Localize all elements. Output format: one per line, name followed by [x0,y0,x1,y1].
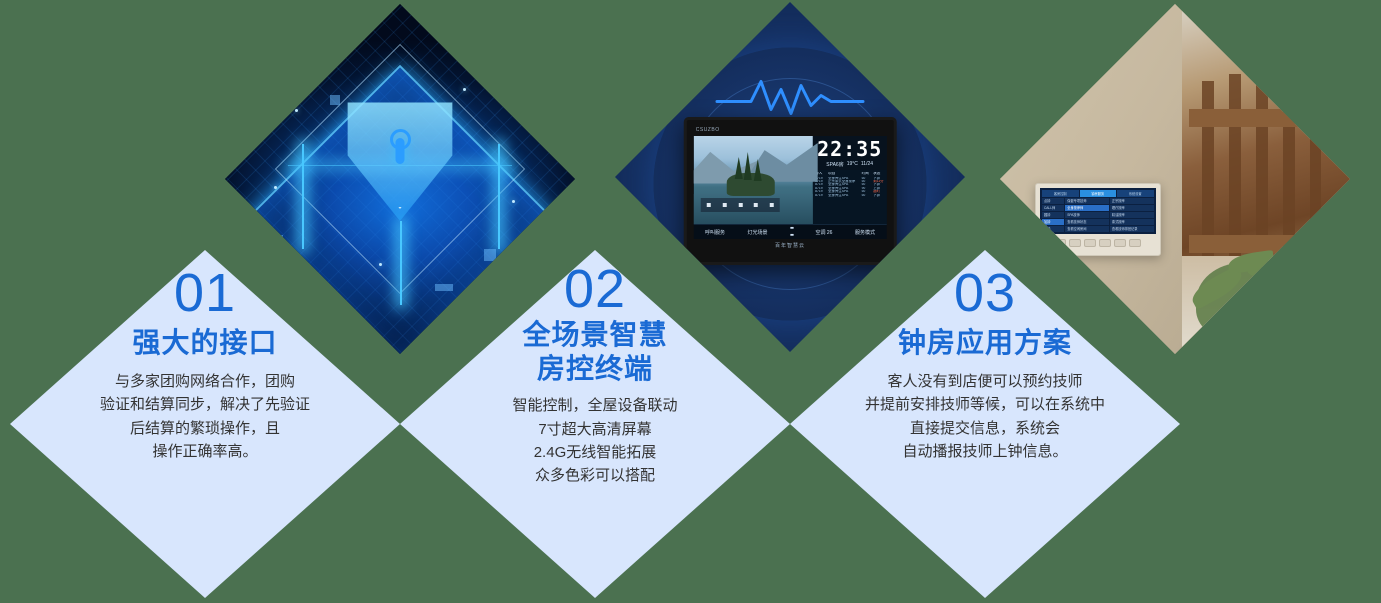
wall-panel-tabs[interactable]: 客房控制 钟房服务 系统设置 [1042,190,1154,197]
card-image-2: CSUZBO [615,2,965,352]
light-beam-left [302,144,304,249]
card-image-3: 客房控制 钟房服务 系统设置 点钟 CALL师 圆钟 加钟 点钟 [1000,4,1350,354]
menu-item[interactable]: 保健专项技师 [1065,198,1109,204]
smart-room-control-panel-device-image: CSUZBO [615,2,965,352]
volume-icon[interactable] [754,203,758,207]
chip-block [267,235,283,245]
chip-block [330,95,340,105]
hard-key[interactable] [1084,239,1096,247]
chip-block [484,249,496,261]
clock-widget: 22:35 SPA6房 19°C 11/24 [813,136,886,170]
light-dot [512,200,515,203]
hard-key[interactable] [1069,239,1081,247]
wood-slat [1310,53,1322,270]
control-panel-device: CSUZBO [684,117,897,265]
light-dot [274,186,277,189]
wall-panel-screen: 客房控制 钟房服务 系统设置 点钟 CALL师 圆钟 加钟 点钟 [1040,188,1156,234]
table-cell: 8719 [815,194,826,197]
clock-meta: SPA6房 19°C 11/24 [816,161,883,168]
side-button[interactable]: 点钟 [1042,226,1064,232]
table-header-cell: 状态 [873,172,884,176]
bottom-bar-item[interactable]: 服务模式 [855,229,875,236]
menu-item[interactable]: 查看技师排班记录 [1110,226,1154,232]
wall-mounted-panel-lobby-photo-image: 客房控制 钟房服务 系统设置 点钟 CALL师 圆钟 加钟 点钟 [1000,4,1350,354]
prev-icon[interactable] [707,203,711,207]
tree [734,157,742,179]
table-cell: 60 [862,194,872,197]
wall-panel-menu-left[interactable]: 保健专项技师 全身按摩师 SPA技师 查看技师状态 查看空闲房间 [1065,198,1109,232]
card-description: 与多家团购网络合作，团购 验证和结算同步，解决了先验证 后结算的繁琐操作，且 操… [100,370,310,463]
side-button[interactable]: 点钟 [1042,198,1064,204]
menu-item[interactable]: 查看技师状态 [1065,219,1109,225]
light-beam-center [400,221,402,305]
room-label: SPA6房 [826,161,843,168]
light-dot [379,263,382,266]
hard-key[interactable] [1114,239,1126,247]
list-icon[interactable] [770,203,774,207]
tree [753,159,761,181]
wall-panel-menu-right[interactable]: 正宗按摩 理疗按摩 精油按摩 泰式按摩 查看技师排班记录 [1110,198,1154,232]
card-3: 03 钟房应用方案 客人没有到店便可以预约技师 并提前安排技师等候，可以在系统中… [790,250,1180,598]
light-dot [463,88,466,91]
wall-panel-tab[interactable]: 客房控制 [1042,190,1079,197]
wood-rail [1189,109,1344,127]
table-header-cell: 时间 [862,172,872,176]
device-brand-label: CSUZBO [696,127,887,133]
service-table-body: 8719全身养生SPA60下钟8719正宗泰式全身按摩60剩11分8719全身养… [815,177,884,197]
menu-item[interactable]: 泰式按摩 [1110,219,1154,225]
play-icon[interactable] [723,203,727,207]
side-button[interactable]: CALL师 [1042,205,1064,211]
hard-key[interactable] [1129,239,1141,247]
bottom-bar-item[interactable]: 呼叫服务 [705,229,725,236]
device-screen: 22:35 SPA6房 19°C 11/24 钟人 项目 时间 [694,136,887,224]
card-number: 01 [174,266,236,320]
wall-panel-side-buttons[interactable]: 点钟 CALL师 圆钟 加钟 点钟 [1042,198,1064,232]
card-number: 02 [564,262,626,316]
chip-block [435,284,453,291]
service-table: 钟人 项目 时间 状态 8719全身养生SPA60下钟8719正宗泰式全身按摩6… [813,170,886,224]
heartbeat-icon [715,71,865,122]
menu-item[interactable]: 正宗按摩 [1110,198,1154,204]
card-title: 钟房应用方案 [898,326,1072,360]
card-description: 智能控制，全屋设备联动 7寸超大高清屏幕 2.4G无线智能拓展 众多色彩可以搭配 [512,394,677,487]
menu-item[interactable]: 理疗按摩 [1110,205,1154,211]
menu-item-selected[interactable]: 全身按摩师 [1065,205,1109,211]
table-row: 8719全身养生SPA60下钟 [815,194,884,197]
wall-panel-tab-active[interactable]: 钟房服务 [1080,190,1117,197]
cyber-shield-lock-circuit-image [225,4,575,354]
next-icon[interactable] [738,203,742,207]
feature-diamond-banner: CSUZBO [0,0,1381,603]
wallpaper-scenery [694,136,813,224]
wall-panel-tab[interactable]: 系统设置 [1117,190,1154,197]
card-2: 02 全场景智慧 房控终端 智能控制，全屋设备联动 7寸超大高清屏幕 2.4G无… [400,250,790,598]
menu-item[interactable]: 精油按摩 [1110,212,1154,218]
tree [744,152,752,180]
card-title: 全场景智慧 房控终端 [522,318,667,386]
card-number: 03 [954,266,1016,320]
card-title: 强大的接口 [132,326,277,360]
table-cell: 下钟 [873,194,884,197]
card-1: 01 强大的接口 与多家团购网络合作，团购 验证和结算同步，解决了先验证 后结算… [10,250,400,598]
table-cell: 全身养生SPA [828,194,859,197]
device-bottom-bar[interactable]: 呼叫服务 灯光场景 ▪▪▪▪ 空调 26 服务模式 [694,224,887,239]
wall-control-panel[interactable]: 客房控制 钟房服务 系统设置 点钟 CALL师 圆钟 加钟 点钟 [1035,183,1161,256]
hard-key[interactable] [1054,239,1066,247]
status-panel: 22:35 SPA6房 19°C 11/24 钟人 项目 时间 [813,136,886,224]
clock-time: 22:35 [816,139,883,159]
table-header-row: 钟人 项目 时间 状态 [815,172,884,176]
light-dot [295,109,298,112]
wall-panel-body: 点钟 CALL师 圆钟 加钟 点钟 保健专项技师 全身按摩师 SPA技师 查看技… [1042,198,1154,232]
menu-item[interactable]: SPA技师 [1065,212,1109,218]
side-button-active[interactable]: 加钟 [1042,219,1064,225]
hard-key[interactable] [1099,239,1111,247]
date-label: 11/24 [861,161,873,168]
bottom-bar-item[interactable]: 空调 26 [816,229,833,236]
bottom-bar-item[interactable]: 灯光场景 [748,229,768,236]
menu-item[interactable]: 查看空闲房间 [1065,226,1109,232]
side-button[interactable]: 圆钟 [1042,212,1064,218]
media-player-bar[interactable] [701,198,780,212]
lock-icon [396,138,405,164]
apps-grid-icon[interactable]: ▪▪▪▪ [790,225,793,239]
temperature-label: 19°C [847,161,858,168]
light-beam-right [498,144,500,249]
card-image-1 [225,4,575,354]
wall-panel-hard-keys[interactable] [1040,239,1156,247]
table-header-cell: 项目 [828,172,859,176]
device-logo: 百年智慧云 [694,242,887,249]
card-description: 客人没有到店便可以预约技师 并提前安排技师等候，可以在系统中 直接提交信息，系统… [865,370,1105,463]
